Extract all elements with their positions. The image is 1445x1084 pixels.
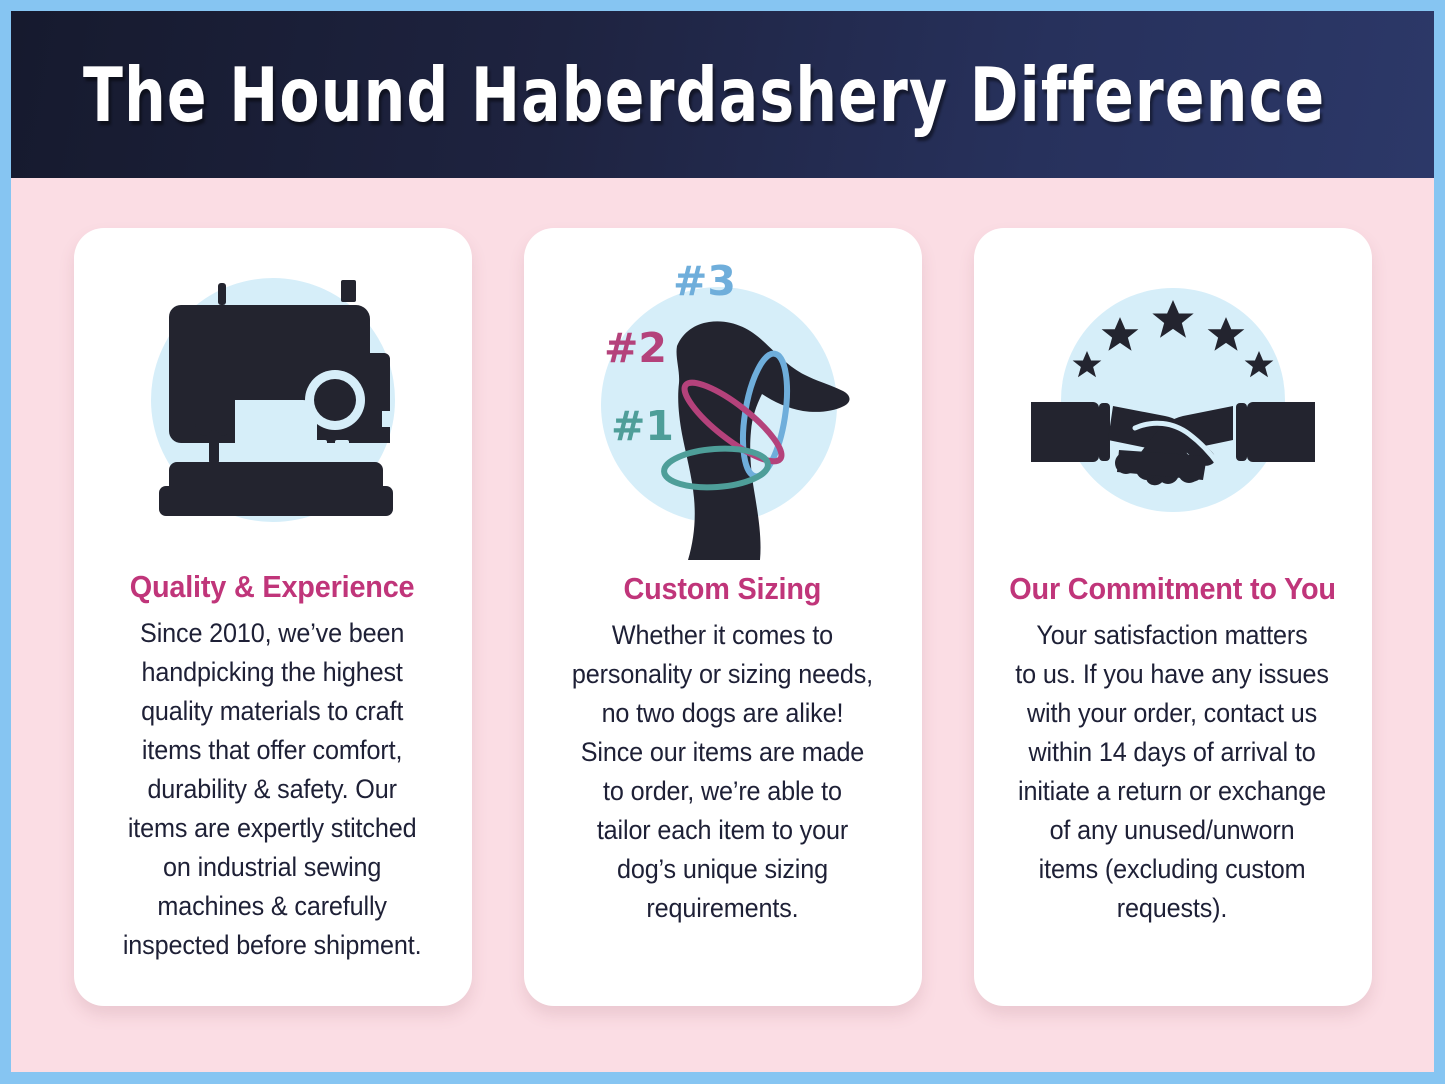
card-title: Custom Sizing bbox=[624, 572, 822, 606]
header-banner: The Hound Haberdashery Difference bbox=[11, 11, 1434, 178]
mid-neck-measurement-label: #2 bbox=[604, 324, 667, 372]
dog-measurement-icon: #3 #2 #1 bbox=[573, 250, 873, 550]
card-body: Your satisfaction matters to us. If you … bbox=[1016, 616, 1330, 928]
card-quality-experience: Quality & Experience Since 2010, we’ve b… bbox=[74, 228, 472, 1006]
card-body: Since 2010, we’ve been handpicking the h… bbox=[123, 614, 422, 965]
infographic-inner: The Hound Haberdashery Difference bbox=[11, 11, 1434, 1072]
card-custom-sizing: #3 #2 #1 Custom Sizing Whether it comes … bbox=[524, 228, 922, 1006]
page-title: The Hound Haberdashery Difference bbox=[83, 51, 1325, 139]
head-measurement-label: #3 bbox=[673, 257, 736, 305]
card-commitment: Our Commitment to You Your satisfaction … bbox=[974, 228, 1372, 1006]
handshake-stars-icon bbox=[1023, 250, 1323, 550]
neck-base-measurement-label: #1 bbox=[611, 402, 674, 450]
cards-row: Quality & Experience Since 2010, we’ve b… bbox=[11, 228, 1434, 1006]
card-title: Our Commitment to You bbox=[1009, 572, 1336, 606]
sewing-machine-icon bbox=[123, 250, 423, 550]
infographic-root: The Hound Haberdashery Difference bbox=[0, 0, 1445, 1084]
card-body: Whether it comes to personality or sizin… bbox=[572, 616, 873, 928]
card-title: Quality & Experience bbox=[130, 570, 415, 604]
